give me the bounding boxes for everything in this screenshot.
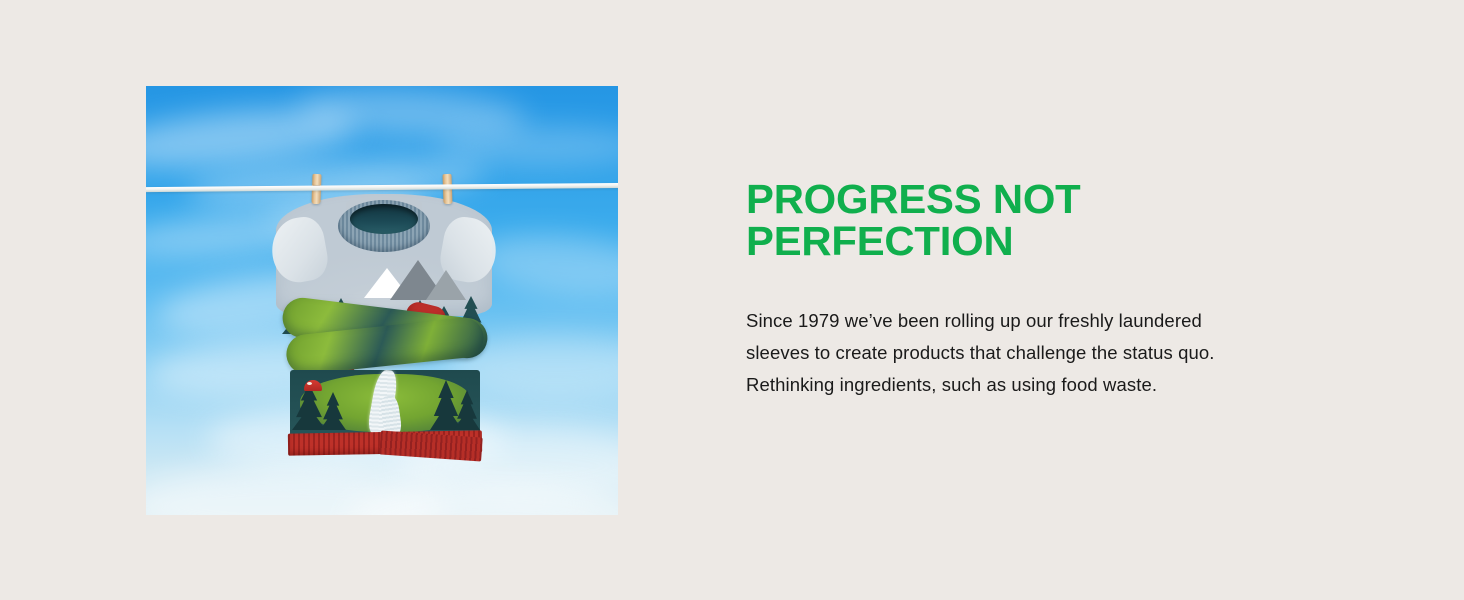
promo-banner: PROGRESS NOT PERFECTION Since 1979 we’ve…: [0, 0, 1464, 600]
text-column: PROGRESS NOT PERFECTION Since 1979 we’ve…: [746, 178, 1266, 401]
mushroom-motif: [304, 380, 322, 391]
sweater: [276, 194, 492, 442]
sweater-collar-opening: [350, 204, 418, 234]
body-paragraph: Since 1979 we’ve been rolling up our fre…: [746, 262, 1258, 401]
sweater-on-clothesline-photo: [146, 86, 618, 515]
sweater-crossed-sleeves: [276, 298, 492, 380]
headline: PROGRESS NOT PERFECTION: [746, 178, 1276, 262]
